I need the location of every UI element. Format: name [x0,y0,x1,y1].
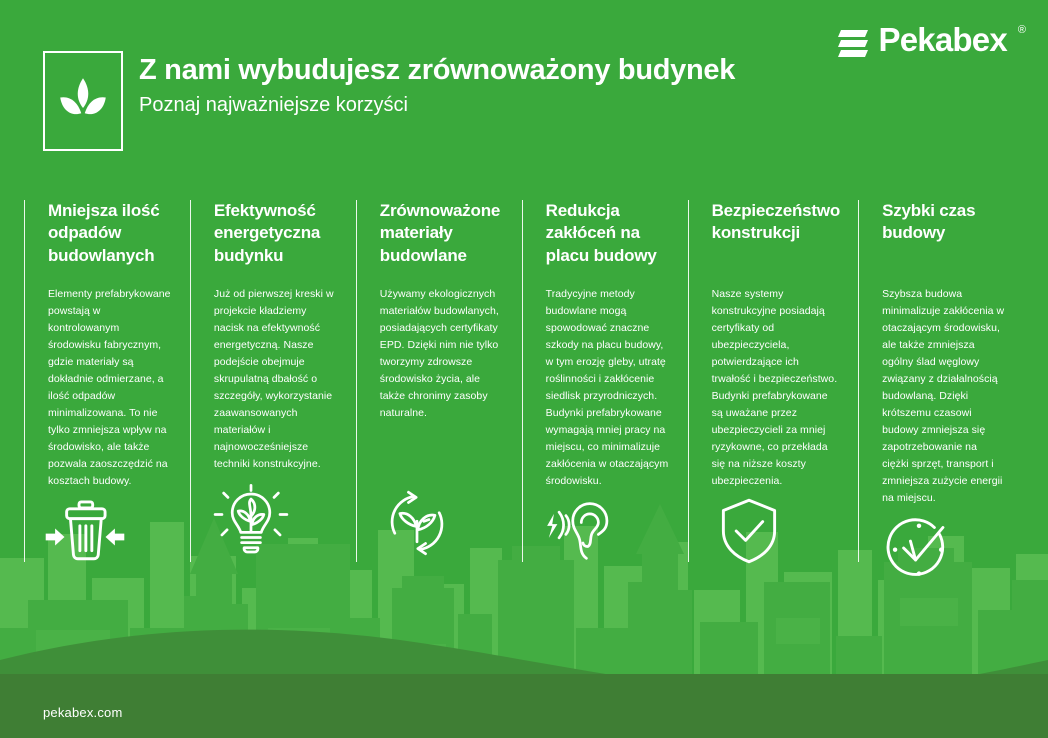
registered-trademark-mark: ® [1018,25,1026,36]
benefit-column-energy: Efektywność energetyczna budynku Już od … [190,200,356,570]
column-body: Nasze systemy konstrukcyjne posiadają ce… [712,286,841,490]
page-subtitle: Poznaj najważniejsze korzyści [139,92,839,118]
column-title: Efektywność energetyczna budynku [214,200,338,272]
pekabex-bars-icon [838,28,868,59]
column-title: Bezpieczeństwo konstrukcji [712,200,841,272]
ear-noise-icon [542,490,624,572]
benefit-columns: Mniejsza ilość odpadów budowlanych Eleme… [24,200,1024,570]
column-title: Mniejsza ilość odpadów budowlanych [48,200,172,272]
lightbulb-plant-icon [210,482,292,564]
shield-check-icon [708,490,790,572]
column-title: Zrównoważone materiały budowlane [380,200,504,272]
benefit-column-waste: Mniejsza ilość odpadów budowlanych Eleme… [24,200,190,570]
clock-check-icon [878,507,960,589]
trash-bin-reduce-icon [44,490,126,572]
recycle-leaves-icon [376,482,458,564]
leaf-trio-logo [43,51,123,151]
column-icon [712,490,841,578]
footer-band [0,674,1048,738]
header: Z nami wybudujesz zrównoważony budynek P… [0,0,1048,180]
benefit-column-materials: Zrównoważone materiały budowlane Używamy… [356,200,522,570]
hill-layer [0,578,1048,738]
brand-logo: Pekabex ® [838,23,1026,59]
infographic-poster: Z nami wybudujesz zrównoważony budynek P… [0,0,1048,738]
benefit-column-disruption: Redukcja zakłóceń na placu budowy Tradyc… [522,200,688,570]
column-body: Używamy ekologicznych materiałów budowla… [380,286,504,422]
header-text-block: Z nami wybudujesz zrównoważony budynek P… [139,54,839,118]
column-body: Szybsza budowa minimalizuje zakłócenia w… [882,286,1006,507]
column-icon [380,474,504,570]
benefit-column-speed: Szybki czas budowy Szybsza budowa minima… [858,200,1024,570]
column-body: Tradycyjne metody budowlane mogą spowodo… [546,286,670,490]
column-title: Szybki czas budowy [882,200,1006,272]
column-body: Już od pierwszej kreski w projekcie kład… [214,286,338,473]
page-title: Z nami wybudujesz zrównoważony budynek [139,54,839,87]
column-icon [214,474,338,570]
leaf-trio-icon [55,73,111,129]
column-title: Redukcja zakłóceń na placu budowy [546,200,670,272]
footer-website-url[interactable]: pekabex.com [43,705,123,720]
column-icon [546,490,670,578]
column-icon [48,490,172,578]
column-icon [882,507,1006,595]
benefit-column-safety: Bezpieczeństwo konstrukcji Nasze systemy… [688,200,859,570]
brand-name: Pekabex [879,23,1007,56]
column-body: Elementy prefabrykowane powstają w kontr… [48,286,172,490]
